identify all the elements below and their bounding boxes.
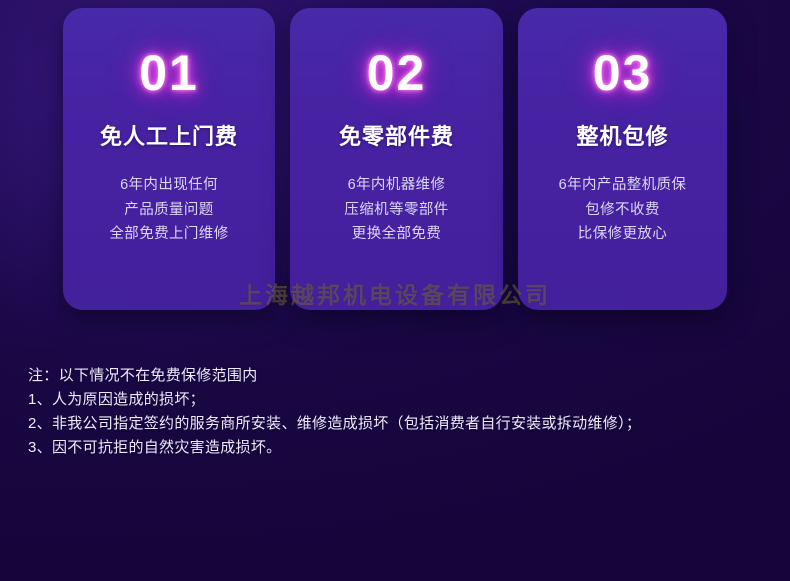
card-number-02: 02 bbox=[290, 48, 503, 98]
card-desc-line: 6年内产品整机质保 bbox=[518, 173, 727, 197]
card-desc-line: 压缩机等零部件 bbox=[290, 198, 503, 222]
warranty-card-01: 01 免人工上门费 6年内出现任何 产品质量问题 全部免费上门维修 bbox=[63, 8, 275, 310]
card-desc-line: 更换全部免费 bbox=[290, 222, 503, 246]
warranty-promo-banner: 01 免人工上门费 6年内出现任何 产品质量问题 全部免费上门维修 02 免零部… bbox=[0, 0, 790, 581]
card-desc-line: 全部免费上门维修 bbox=[63, 222, 275, 246]
card-title-01: 免人工上门费 bbox=[63, 125, 275, 149]
card-desc-line: 包修不收费 bbox=[518, 198, 727, 222]
card-desc-line: 6年内出现任何 bbox=[63, 173, 275, 197]
warranty-card-group: 01 免人工上门费 6年内出现任何 产品质量问题 全部免费上门维修 02 免零部… bbox=[0, 0, 790, 330]
warranty-card-03: 03 整机包修 6年内产品整机质保 包修不收费 比保修更放心 bbox=[518, 8, 727, 310]
card-description-01: 6年内出现任何 产品质量问题 全部免费上门维修 bbox=[63, 173, 275, 246]
card-title-02: 免零部件费 bbox=[290, 125, 503, 149]
warranty-exclusion-notes: 注：以下情况不在免费保修范围内 1、人为原因造成的损坏； 2、非我公司指定签约的… bbox=[28, 364, 768, 460]
note-line-heading: 注：以下情况不在免费保修范围内 bbox=[28, 364, 768, 388]
note-line-1: 1、人为原因造成的损坏； bbox=[28, 388, 768, 412]
card-desc-line: 产品质量问题 bbox=[63, 198, 275, 222]
warranty-card-02: 02 免零部件费 6年内机器维修 压缩机等零部件 更换全部免费 bbox=[290, 8, 503, 310]
note-line-2: 2、非我公司指定签约的服务商所安装、维修造成损坏（包括消费者自行安装或拆动维修）… bbox=[28, 412, 768, 436]
card-description-03: 6年内产品整机质保 包修不收费 比保修更放心 bbox=[518, 173, 727, 246]
note-line-3: 3、因不可抗拒的自然灾害造成损坏。 bbox=[28, 436, 768, 460]
card-desc-line: 6年内机器维修 bbox=[290, 173, 503, 197]
card-number-03: 03 bbox=[518, 48, 727, 98]
card-description-02: 6年内机器维修 压缩机等零部件 更换全部免费 bbox=[290, 173, 503, 246]
card-number-01: 01 bbox=[63, 48, 275, 98]
card-desc-line: 比保修更放心 bbox=[518, 222, 727, 246]
card-title-03: 整机包修 bbox=[518, 125, 727, 149]
